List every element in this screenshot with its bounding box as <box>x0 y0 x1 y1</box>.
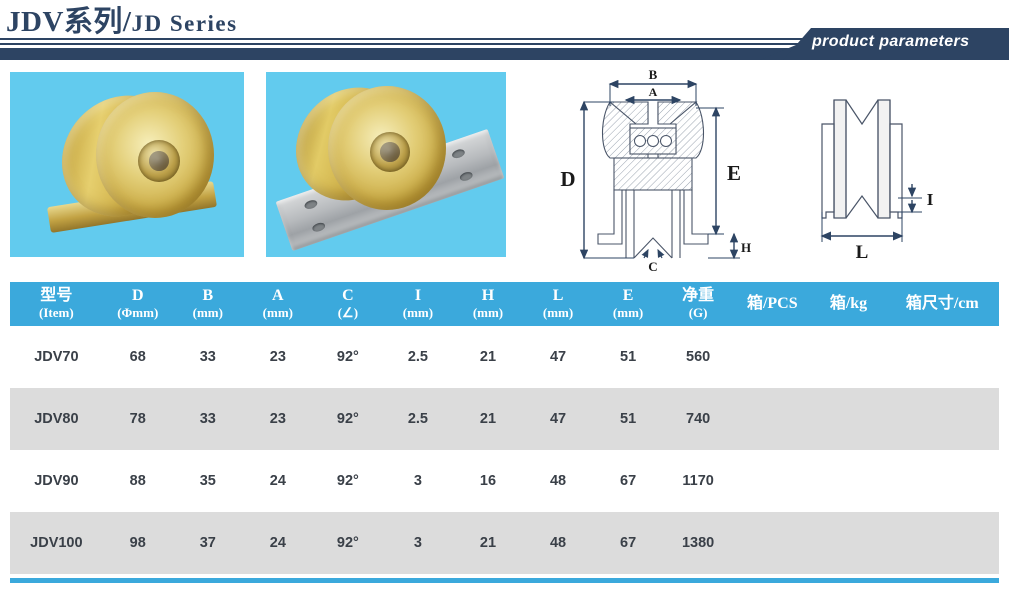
v-groove-wheel-photo <box>10 72 244 257</box>
cell-b: 33 <box>173 326 243 388</box>
wheel-bore <box>380 142 400 162</box>
column-header-box-size: 箱尺寸/cm <box>886 282 999 326</box>
cell-d: 78 <box>103 388 173 450</box>
banner-label: product parameters <box>812 33 969 51</box>
specifications-table: 型号 (Item) D (Φmm) B (mm) A (mm) C (∠) I … <box>10 282 999 574</box>
cell-b: 35 <box>173 450 243 512</box>
column-header-box-pcs: 箱/PCS <box>733 282 811 326</box>
cell-item: JDV100 <box>10 512 103 574</box>
cell-item: JDV80 <box>10 388 103 450</box>
cell-item: JDV70 <box>10 326 103 388</box>
cell-box-pcs <box>733 326 811 388</box>
rail-hole <box>311 221 326 233</box>
cell-h: 21 <box>453 326 523 388</box>
wheel-bore <box>149 151 169 171</box>
cell-b: 33 <box>173 388 243 450</box>
column-header-b: B (mm) <box>173 282 243 326</box>
cell-box-kg <box>811 326 885 388</box>
svg-text:E: E <box>727 161 741 185</box>
rail-hole <box>303 199 318 211</box>
column-header-i: I (mm) <box>383 282 453 326</box>
cell-l: 48 <box>523 512 593 574</box>
title-rule-lower <box>0 43 813 45</box>
page-title: JDV系列/JD Series <box>6 0 238 40</box>
cell-net-weight: 1380 <box>663 512 733 574</box>
cell-net-weight: 560 <box>663 326 733 388</box>
cell-box-kg <box>811 450 885 512</box>
cell-d: 98 <box>103 512 173 574</box>
cell-box-size <box>886 512 999 574</box>
svg-text:L: L <box>856 242 869 263</box>
cell-i: 2.5 <box>383 326 453 388</box>
column-header-c: C (∠) <box>313 282 383 326</box>
cell-box-pcs <box>733 512 811 574</box>
cell-d: 68 <box>103 326 173 388</box>
column-header-net-weight: 净重 (G) <box>663 282 733 326</box>
cell-e: 51 <box>593 388 663 450</box>
cell-h: 21 <box>453 512 523 574</box>
cell-c: 92° <box>313 326 383 388</box>
column-header-a: A (mm) <box>243 282 313 326</box>
cell-box-size <box>886 450 999 512</box>
cell-a: 23 <box>243 326 313 388</box>
cell-c: 92° <box>313 388 383 450</box>
cell-h: 16 <box>453 450 523 512</box>
cell-a: 23 <box>243 388 313 450</box>
cell-c: 92° <box>313 450 383 512</box>
title-rule-upper <box>0 38 810 40</box>
cell-l: 47 <box>523 326 593 388</box>
svg-text:H: H <box>741 240 751 255</box>
cell-i: 3 <box>383 512 453 574</box>
table-row: JDV70 68 33 23 92° 2.5 21 47 51 560 <box>10 326 999 388</box>
svg-text:C: C <box>648 259 657 274</box>
svg-text:I: I <box>927 190 934 209</box>
svg-text:D: D <box>560 167 575 191</box>
column-header-box-kg: 箱/kg <box>811 282 885 326</box>
cell-b: 37 <box>173 512 243 574</box>
cell-i: 2.5 <box>383 388 453 450</box>
table-row: JDV100 98 37 24 92° 3 21 48 67 1380 <box>10 512 999 574</box>
svg-text:A: A <box>649 85 658 99</box>
page-title-en: JD Series <box>131 11 237 36</box>
v-groove-wheel-with-rail-photo <box>266 72 506 257</box>
cell-box-kg <box>811 512 885 574</box>
column-header-h: H (mm) <box>453 282 523 326</box>
cell-net-weight: 740 <box>663 388 733 450</box>
table-row: JDV80 78 33 23 92° 2.5 21 47 51 740 <box>10 388 999 450</box>
cell-c: 92° <box>313 512 383 574</box>
table-bottom-rule <box>10 578 999 583</box>
rail-hole <box>451 148 466 160</box>
cell-box-pcs <box>733 388 811 450</box>
cell-l: 47 <box>523 388 593 450</box>
cell-a: 24 <box>243 450 313 512</box>
cell-box-pcs <box>733 450 811 512</box>
cell-box-size <box>886 326 999 388</box>
column-header-l: L (mm) <box>523 282 593 326</box>
cell-item: JDV90 <box>10 450 103 512</box>
table-header-row: 型号 (Item) D (Φmm) B (mm) A (mm) C (∠) I … <box>10 282 999 326</box>
page-title-cn: JDV系列 <box>6 6 123 38</box>
cell-l: 48 <box>523 450 593 512</box>
cell-d: 88 <box>103 450 173 512</box>
cell-e: 51 <box>593 326 663 388</box>
cell-e: 67 <box>593 512 663 574</box>
front-elevation-drawing: L I <box>800 62 1000 279</box>
cell-h: 21 <box>453 388 523 450</box>
cell-e: 67 <box>593 450 663 512</box>
column-header-item: 型号 (Item) <box>10 282 103 326</box>
cell-i: 3 <box>383 450 453 512</box>
cell-box-kg <box>811 388 885 450</box>
column-header-d: D (Φmm) <box>103 282 173 326</box>
table-row: JDV90 88 35 24 92° 3 16 48 67 1170 <box>10 450 999 512</box>
cell-a: 24 <box>243 512 313 574</box>
svg-text:B: B <box>649 67 658 82</box>
rail-hole <box>459 171 474 183</box>
cross-section-drawing: B A D E H C <box>548 62 773 279</box>
cell-net-weight: 1170 <box>663 450 733 512</box>
column-header-e: E (mm) <box>593 282 663 326</box>
cell-box-size <box>886 388 999 450</box>
